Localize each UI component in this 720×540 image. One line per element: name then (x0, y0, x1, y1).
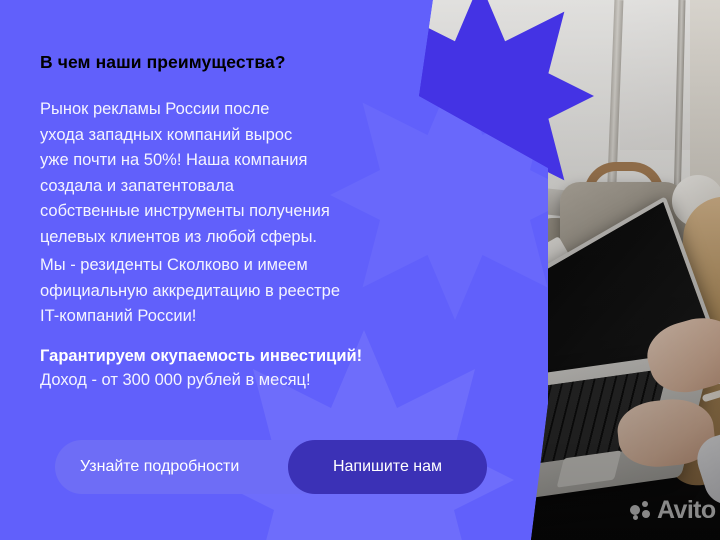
write-us-button[interactable]: Напишите нам (288, 440, 487, 494)
page-title: В чем наши преимущества? (40, 52, 286, 73)
avito-wordmark: Avito (657, 498, 716, 523)
avito-watermark: Avito (630, 498, 716, 523)
avito-dots-icon (630, 501, 652, 521)
guarantee-headline: Гарантируем окупаемость инвестиций! (40, 344, 362, 369)
body-paragraph-skolkovo: Мы - резиденты Сколково и имеем официаль… (40, 253, 340, 330)
avito-advertisement-banner: В чем наши преимущества? Рынок рекламы Р… (0, 0, 720, 540)
body-paragraph-market: Рынок рекламы России после ухода западны… (40, 97, 330, 250)
income-statement: Доход - от 300 000 рублей в месяц! (40, 368, 311, 393)
